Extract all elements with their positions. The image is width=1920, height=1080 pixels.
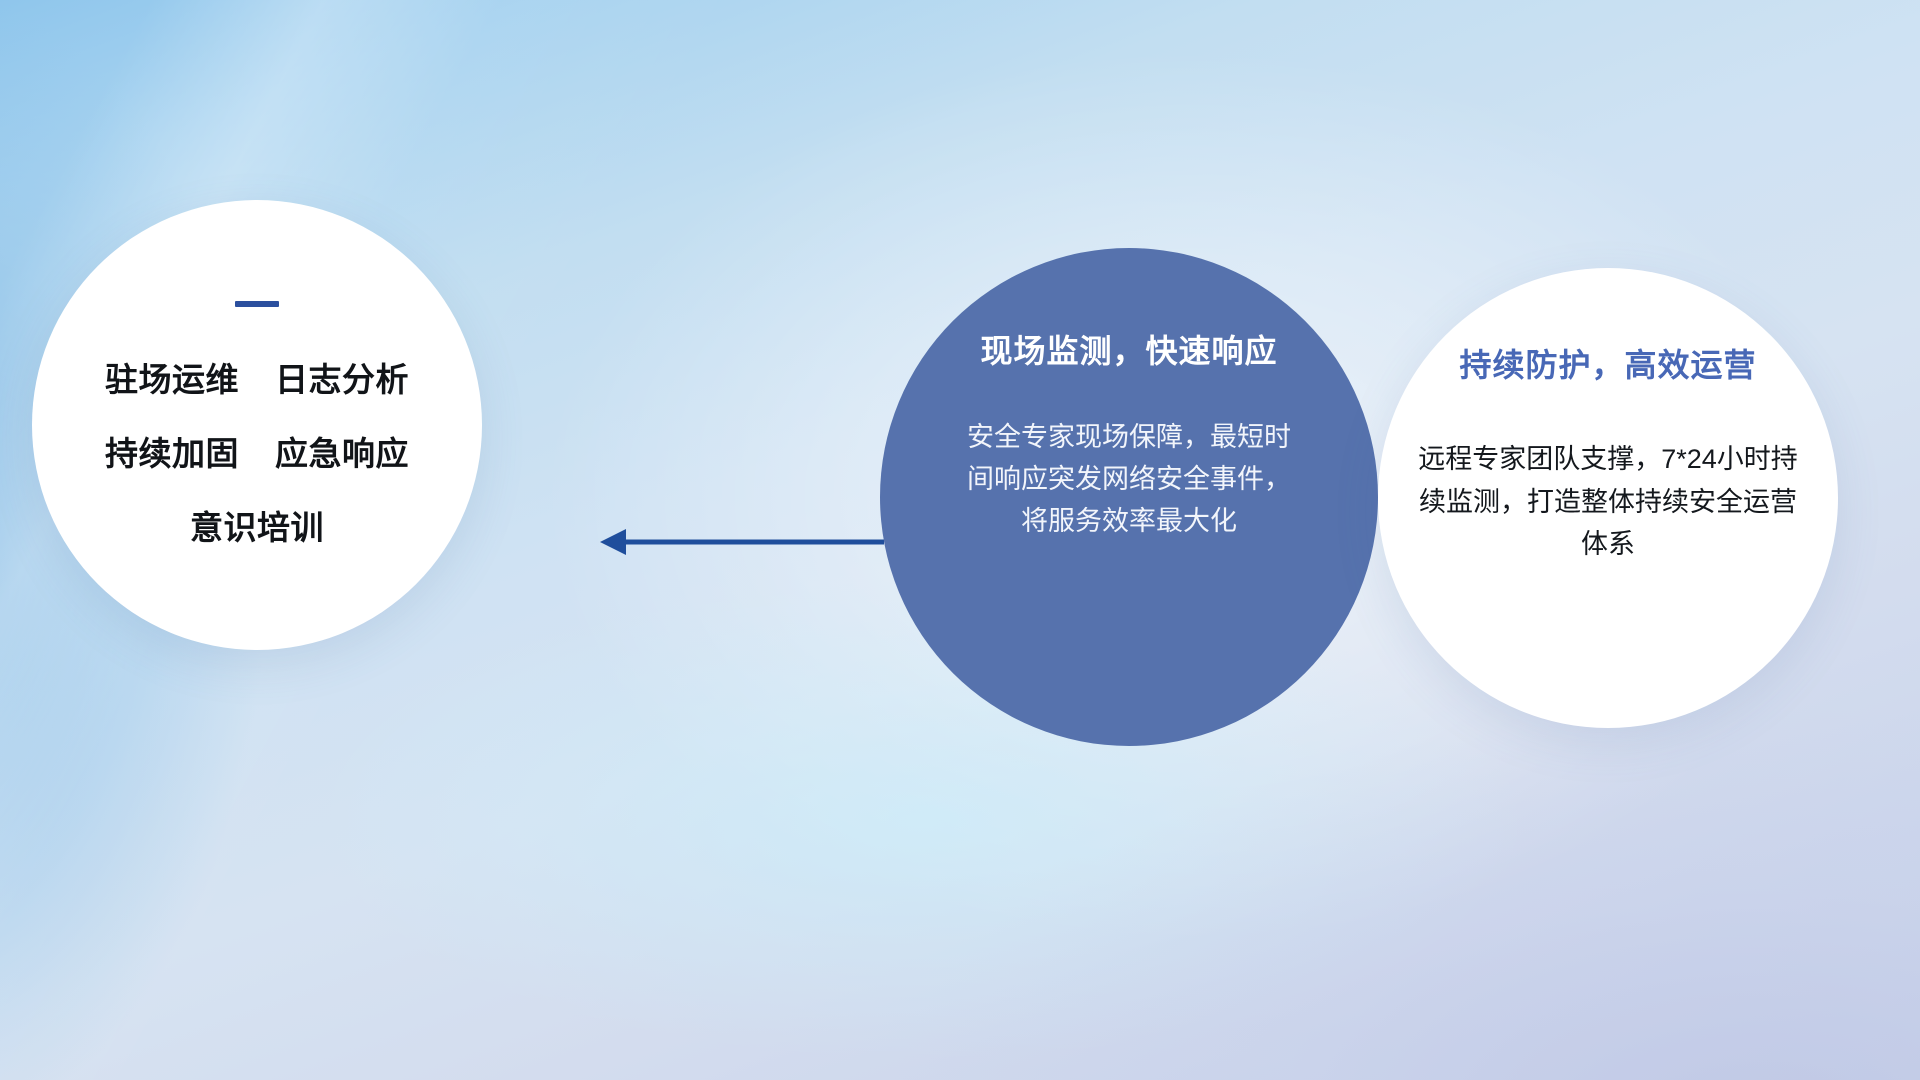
keyword-item: 日志分析 [275,353,409,401]
capability-keywords-circle[interactable]: 驻场运维 日志分析 持续加固 应急响应 意识培训 [32,200,482,650]
onsite-monitoring-circle[interactable]: 现场监测，快速响应 安全专家现场保障，最短时间响应突发网络安全事件，将服务效率最… [880,248,1378,746]
keyword-item: 驻场运维 [105,353,239,401]
horizontal-dash-icon [235,301,279,307]
keyword-item: 应急响应 [275,427,409,475]
keyword-row: 持续加固 应急响应 [105,427,409,475]
capability-keywords-content: 驻场运维 日志分析 持续加固 应急响应 意识培训 [32,200,482,650]
keyword-item: 持续加固 [105,427,239,475]
keyword-list: 驻场运维 日志分析 持续加固 应急响应 意识培训 [105,353,409,549]
continuous-protection-body: 远程专家团队支撑，7*24小时持续监测，打造整体持续安全运营体系 [1412,438,1804,566]
keyword-row: 驻场运维 日志分析 [105,353,409,401]
keyword-item: 意识培训 [190,501,324,549]
keyword-row: 意识培训 [190,501,324,549]
onsite-monitoring-title: 现场监测，快速响应 [980,326,1277,372]
continuous-protection-title: 持续防护，高效运营 [1459,340,1756,386]
continuous-protection-content: 持续防护，高效运营 远程专家团队支撑，7*24小时持续监测，打造整体持续安全运营… [1378,268,1838,728]
continuous-protection-circle[interactable]: 持续防护，高效运营 远程专家团队支撑，7*24小时持续监测，打造整体持续安全运营… [1378,268,1838,728]
slide-canvas: 驻场运维 日志分析 持续加固 应急响应 意识培训 现场监测，快速响应 安全专家现… [0,0,1920,1080]
onsite-monitoring-content: 现场监测，快速响应 安全专家现场保障，最短时间响应突发网络安全事件，将服务效率最… [880,248,1378,746]
left-arrow-icon [596,520,886,564]
onsite-monitoring-body: 安全专家现场保障，最短时间响应突发网络安全事件，将服务效率最大化 [964,416,1294,542]
